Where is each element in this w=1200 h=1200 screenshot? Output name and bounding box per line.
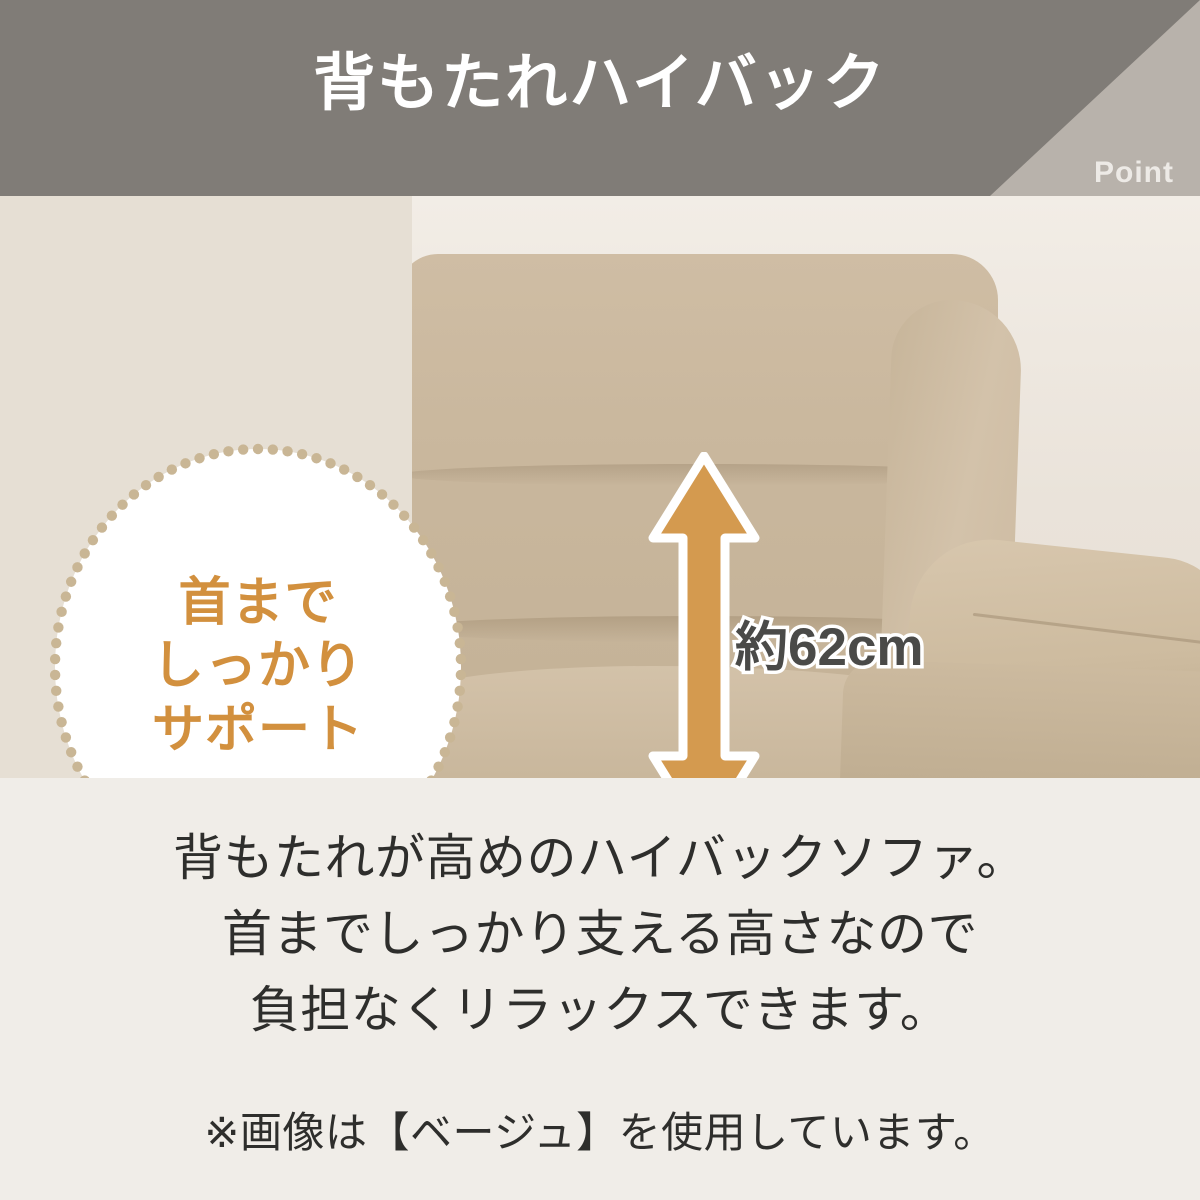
page-title: 背もたれハイバック [0,0,1200,196]
point-label: Point [1094,158,1174,188]
measurement-label: 約62cm [735,621,924,674]
description-line-3: 負担なくリラックスできます。 [0,972,1200,1048]
badge-line-2: しっかり [152,635,364,698]
promo-panel: 背もたれハイバック Point 約62cm 首まで [0,0,1200,1200]
description-line-2: 首までしっかり支える高さなので [0,896,1200,972]
sofa-photo [412,196,1200,778]
description-block: 背もたれが高めのハイバックソファ。 首までしっかり支える高さなので 負担なくリラ… [0,820,1200,1048]
description-line-1: 背もたれが高めのハイバックソファ。 [0,820,1200,896]
product-photo-band: 約62cm 首まで しっかり サポート [0,196,1200,778]
badge-line-1: 首まで [178,572,337,635]
color-footnote: ※画像は【ベージュ】を使用しています。 [0,1112,1200,1154]
height-measure-arrow-icon [645,452,763,778]
header-banner: 背もたれハイバック Point [0,0,1200,196]
badge-line-3: サポート [152,699,364,762]
